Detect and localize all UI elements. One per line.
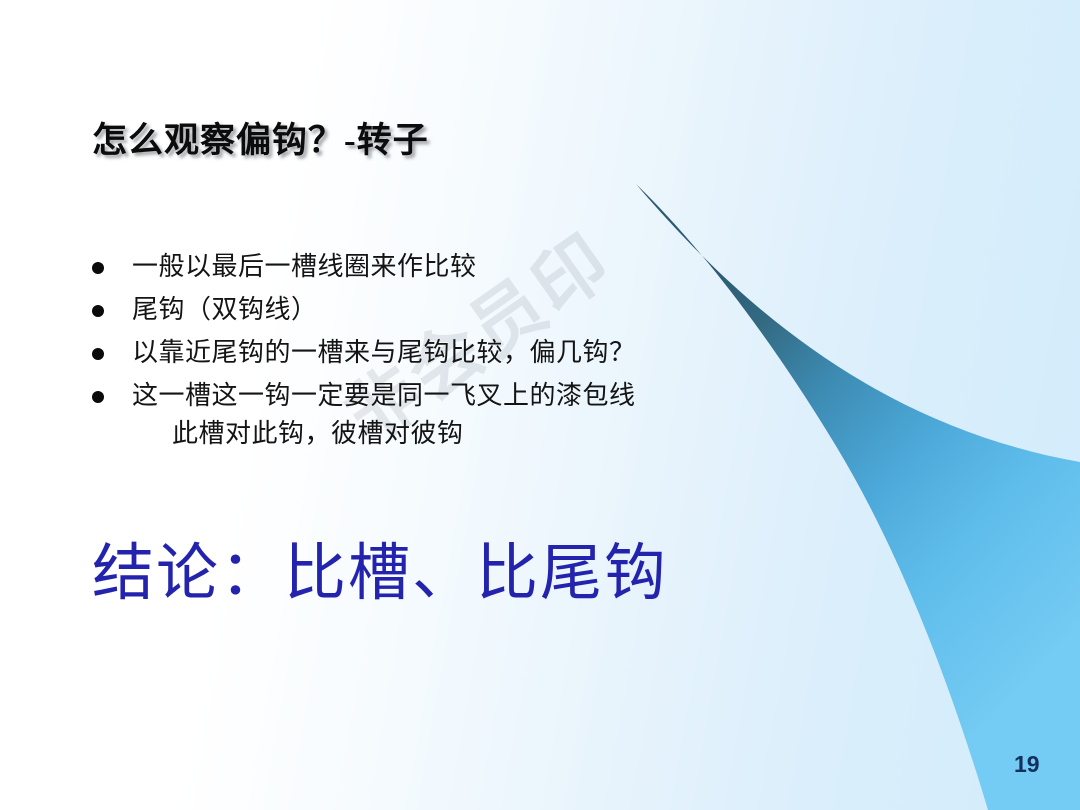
- list-item: 尾钩（双钩线）: [92, 291, 752, 329]
- bullet-list: 一般以最后一槽线圈来作比较 尾钩（双钩线） 以靠近尾钩的一槽来与尾钩比较，偏几钩…: [92, 248, 752, 458]
- list-item: 这一槽这一钩一定要是同一飞叉上的漆包线 此槽对此钩，彼槽对彼钩: [92, 377, 752, 453]
- list-item-label: 这一槽这一钩一定要是同一飞叉上的漆包线: [132, 381, 636, 410]
- list-item-continuation-label: 此槽对此钩，彼槽对彼钩: [132, 415, 636, 453]
- conclusion-text: 结论：比槽、比尾钩: [92, 522, 668, 612]
- slide: 非会员印 怎么观察偏钩？-转子 一般以最后一槽线圈来作比较 尾钩（双钩线） 以靠…: [0, 0, 1080, 810]
- list-item-label-group: 这一槽这一钩一定要是同一飞叉上的漆包线 此槽对此钩，彼槽对彼钩: [132, 377, 636, 453]
- bullet-dot-icon: [92, 391, 104, 403]
- bullet-dot-icon: [92, 348, 104, 360]
- list-item-label: 一般以最后一槽线圈来作比较: [132, 248, 477, 286]
- page-number: 19: [1014, 751, 1040, 778]
- page-title: 怎么观察偏钩？-转子: [92, 112, 429, 163]
- list-item: 以靠近尾钩的一槽来与尾钩比较，偏几钩？: [92, 334, 752, 372]
- list-item: 一般以最后一槽线圈来作比较: [92, 248, 752, 286]
- bullet-dot-icon: [92, 305, 104, 317]
- list-item-label: 以靠近尾钩的一槽来与尾钩比较，偏几钩？: [132, 334, 636, 372]
- bullet-dot-icon: [92, 262, 104, 274]
- list-item-label: 尾钩（双钩线）: [132, 291, 318, 329]
